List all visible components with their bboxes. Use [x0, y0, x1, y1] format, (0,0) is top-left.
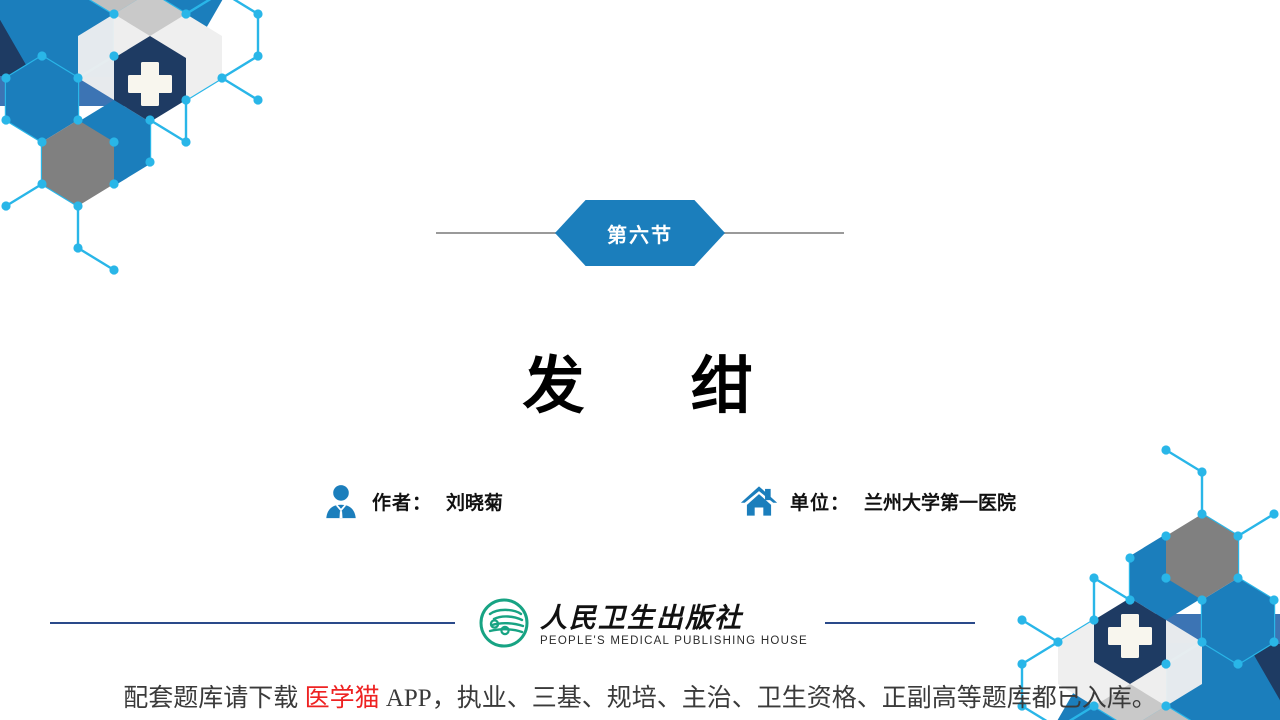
- meta-row: 作者：刘晓菊 单位：兰州大学第一医院: [0, 480, 1280, 528]
- author-label: 作者：: [372, 492, 432, 514]
- title-char-2: 绀: [691, 349, 758, 422]
- author-block: 作者：刘晓菊: [322, 480, 503, 522]
- promo-prefix: 配套题库请下载: [123, 685, 304, 712]
- publisher-name-en: PEOPLE'S MEDICAL PUBLISHING HOUSE: [540, 635, 840, 647]
- promo-highlight: 医学猫: [305, 685, 380, 712]
- person-icon: [322, 480, 360, 522]
- promo-suffix: APP，执业、三基、规培、主治、卫生资格、正副高等题库都已入库。: [380, 685, 1157, 712]
- band-rule-left: [50, 622, 455, 624]
- decor-bottom-right: [962, 398, 1280, 720]
- decor-top-left: [0, 0, 318, 322]
- title-char-1: 发: [522, 349, 589, 422]
- slide-canvas: 第六节 发 绀 作者：刘晓菊 单位: [0, 0, 1280, 720]
- pmph-wave-circle-logo: [478, 597, 530, 649]
- publisher-name-cn: 人民卫生出版社: [540, 600, 840, 634]
- unit-value: 兰州大学第一医院: [864, 492, 1016, 514]
- author-text: 作者：刘晓菊: [372, 488, 503, 515]
- unit-block: 单位：兰州大学第一医院: [740, 480, 1016, 522]
- publisher-wordmark: 人民卫生出版社 PEOPLE'S MEDICAL PUBLISHING HOUS…: [540, 600, 840, 647]
- banner-rule-right: [724, 232, 844, 234]
- publisher-band: 人民卫生出版社 PEOPLE'S MEDICAL PUBLISHING HOUS…: [0, 594, 1280, 652]
- page-title: 发 绀: [0, 335, 1280, 425]
- house-icon: [740, 480, 778, 522]
- band-rule-right: [825, 622, 975, 624]
- medical-cross-icon: [128, 62, 172, 106]
- author-value: 刘晓菊: [446, 492, 503, 514]
- section-banner-row: 第六节: [0, 200, 1280, 266]
- svg-text:人民卫生出版社: 人民卫生出版社: [540, 603, 744, 634]
- section-badge: 第六节: [555, 200, 725, 266]
- unit-text: 单位：兰州大学第一医院: [790, 488, 1016, 515]
- publisher-logo: 人民卫生出版社 PEOPLE'S MEDICAL PUBLISHING HOUS…: [478, 594, 840, 652]
- unit-label: 单位：: [790, 492, 850, 514]
- banner-rule-left: [436, 232, 556, 234]
- promo-strip: 配套题库请下载 医学猫 APP，执业、三基、规培、主治、卫生资格、正副高等题库都…: [0, 678, 1280, 714]
